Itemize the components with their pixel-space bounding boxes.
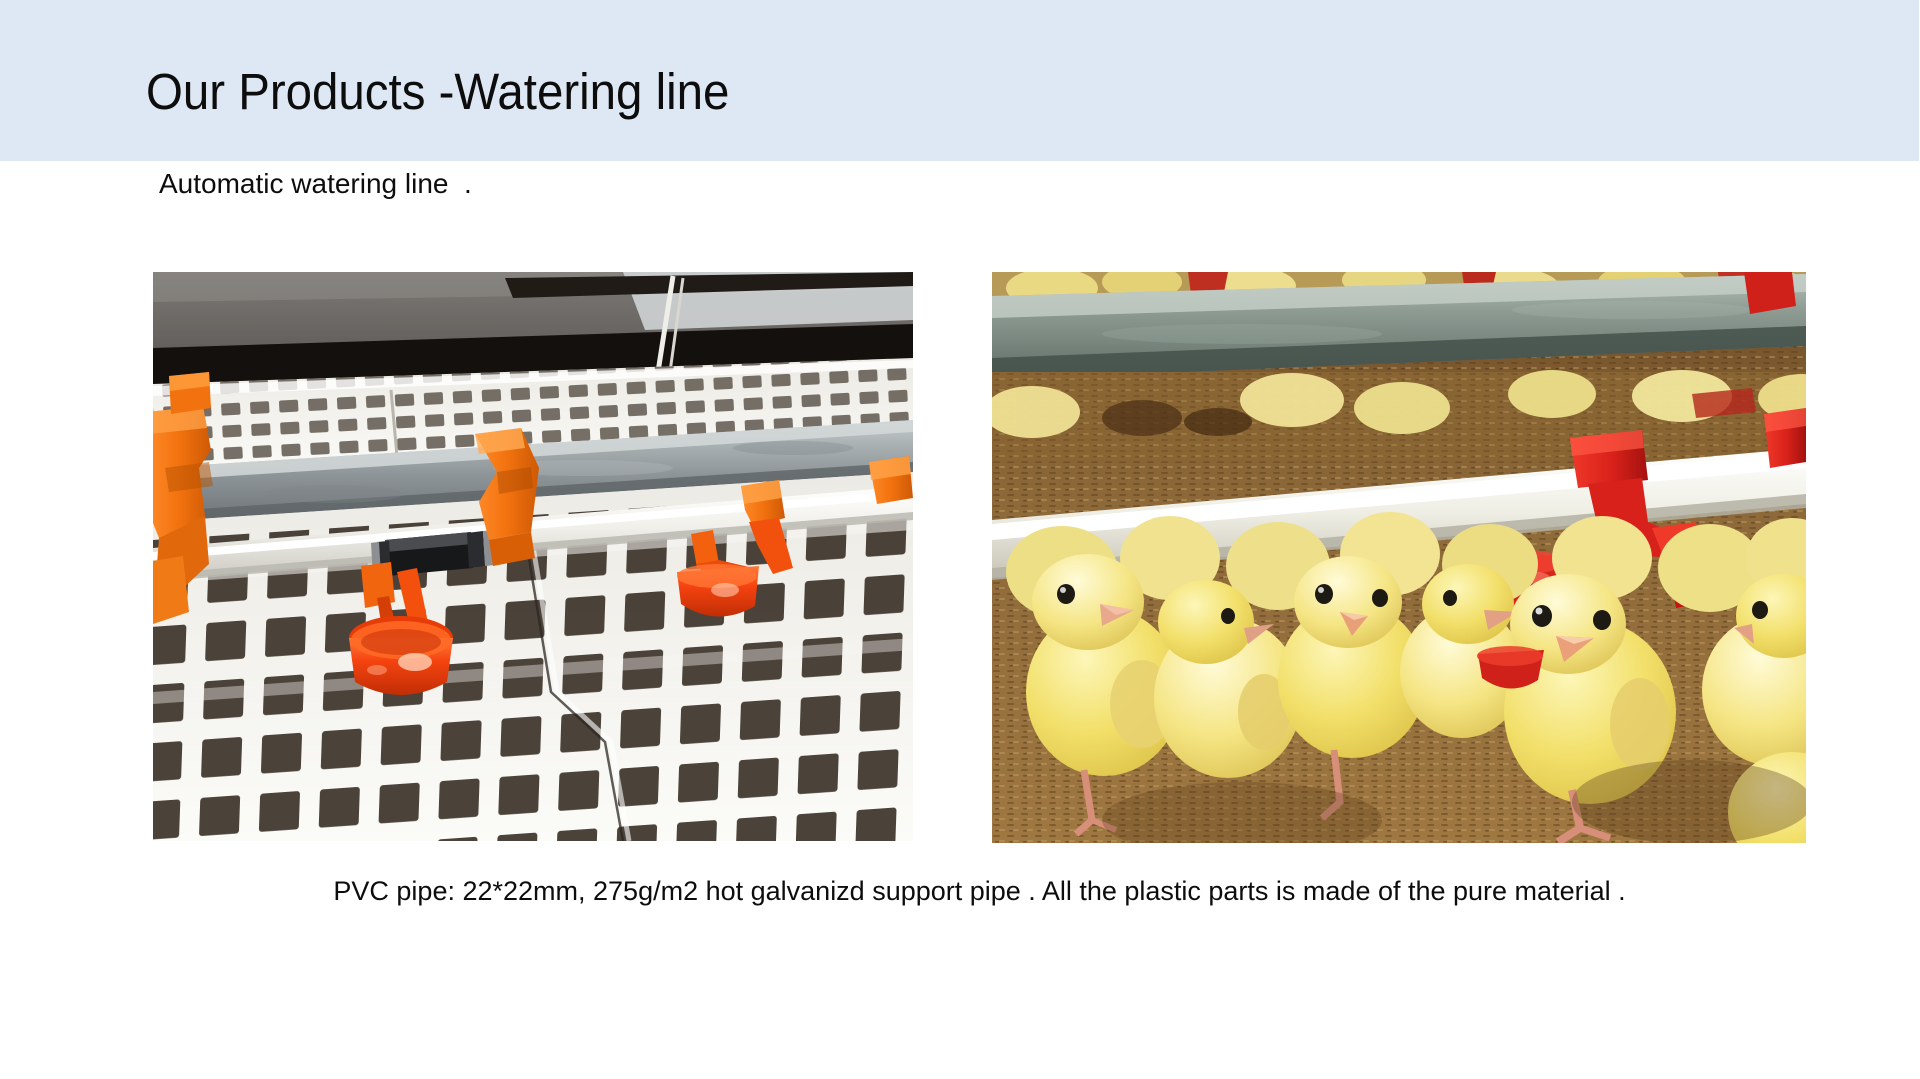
photo-caption: PVC pipe: 22*22mm, 275g/m2 hot galvanizd… xyxy=(153,874,1806,908)
subtitle-text: Automatic watering line . xyxy=(159,167,472,201)
photo-watering-line-slat-floor xyxy=(153,272,913,841)
orange-clip-upper-left xyxy=(169,372,211,414)
photo-chicks-under-watering-line xyxy=(992,272,1806,843)
chicks-illustration xyxy=(992,272,1806,843)
watering-line-illustration xyxy=(153,272,913,841)
page-title: Our Products -Watering line xyxy=(146,63,729,121)
red-clamp-drinker-right xyxy=(1764,408,1806,468)
